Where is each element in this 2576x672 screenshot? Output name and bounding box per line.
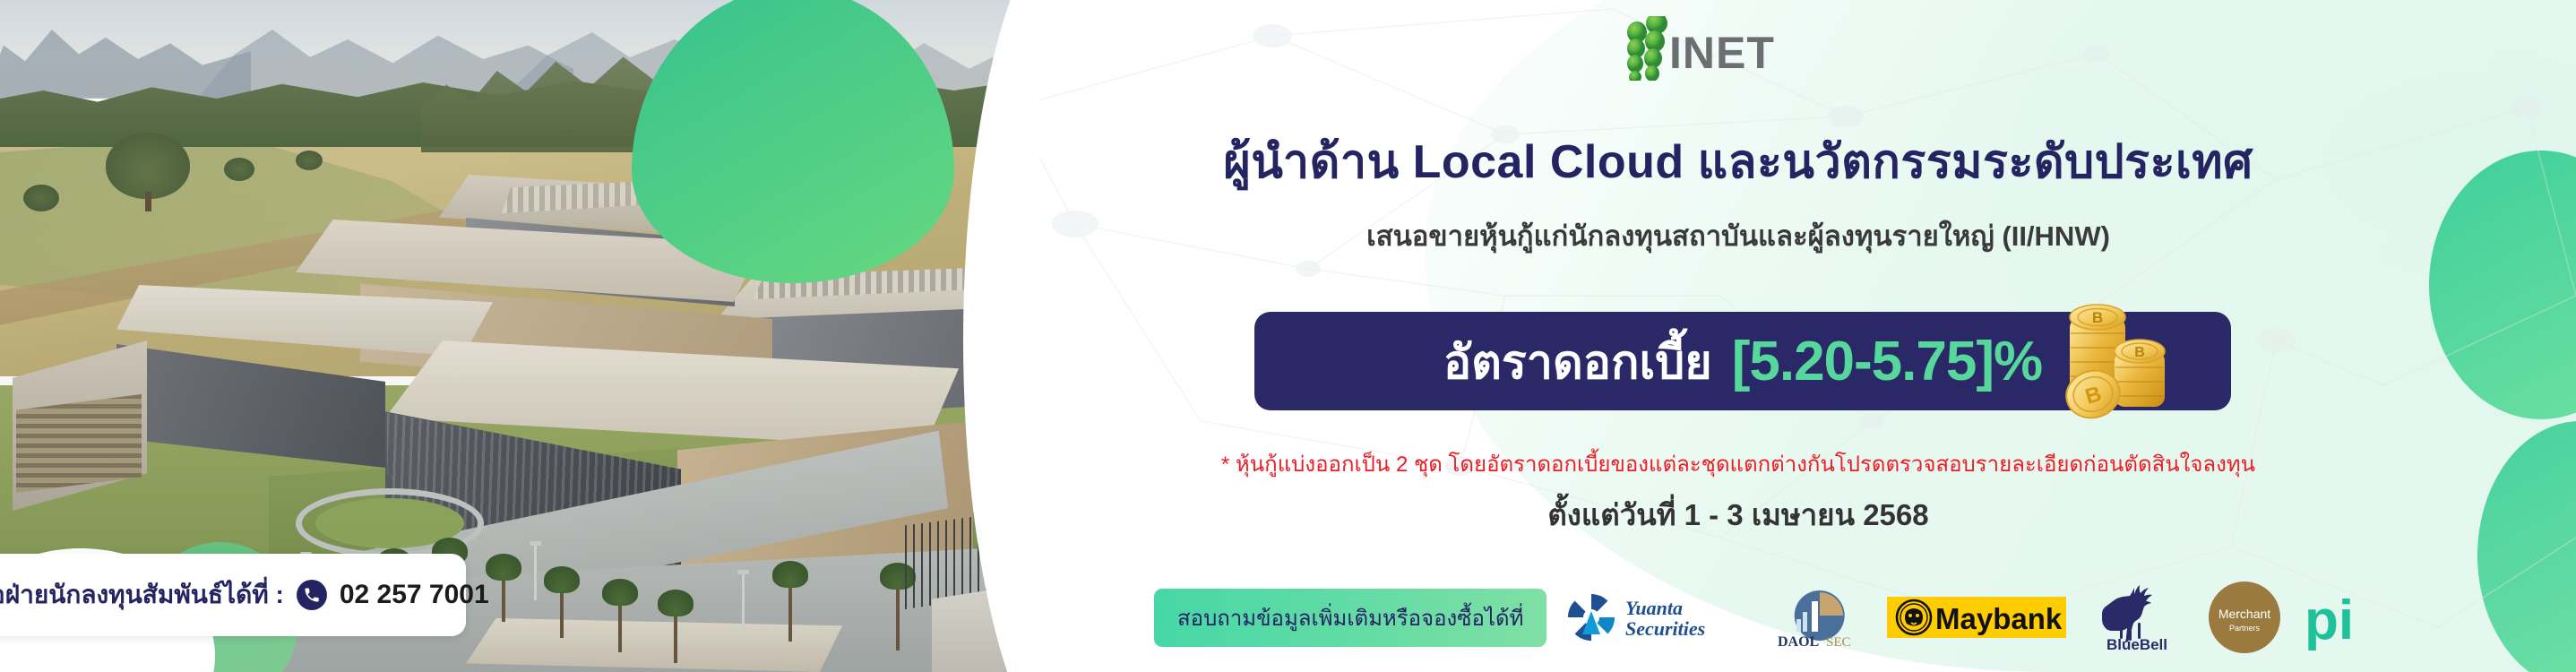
svg-text:B: B: [2134, 345, 2145, 360]
inet-logo-dots: [1627, 16, 1667, 81]
partner-logo-daol-sec[interactable]: DAOL SEC: [1770, 583, 1869, 651]
merchant-wordmark-line1: Merchant: [2218, 607, 2270, 621]
partner-logo-yuanta-securities[interactable]: Yuanta Securities: [1564, 590, 1753, 645]
yuanta-wordmark-line2: Securities: [1625, 617, 1705, 640]
interest-rate-value: [5.20-5.75]%: [1732, 330, 2042, 393]
page-subtitle: เสนอขายหุ้นกู้แก่นักลงทุนสถาบันและผู้ลงท…: [1039, 213, 2437, 258]
pi-wordmark: pi: [2305, 590, 2354, 651]
daol-wordmark: DAOL: [1778, 634, 1819, 650]
investor-relations-contact-box: ติดต่อฝ่ายนักลงทุนสัมพันธ์ได้ที่ : 02 25…: [0, 554, 466, 636]
daol-mark-icon: [1795, 590, 1845, 641]
page-title: ผู้นำด้าน Local Cloud และนวัตกรรมระดับปร…: [1039, 124, 2437, 198]
bluebell-wordmark: BlueBell: [2106, 636, 2167, 651]
contact-label: ติดต่อฝ่ายนักลงทุนสัมพันธ์ได้ที่ :: [0, 575, 284, 615]
inet-logo-wordmark: INET: [1669, 28, 1775, 78]
interest-rate-label: อัตราดอกเบี้ย: [1443, 324, 1712, 399]
inquiry-button[interactable]: สอบถามข้อมูลเพิ่มเติมหรือจองซื้อได้ที่: [1154, 589, 1546, 647]
green-teardrop-decoration: [632, 0, 954, 283]
yuanta-wordmark-line1: Yuanta: [1625, 597, 1683, 619]
content-panel: INET ผู้นำด้าน Local Cloud และนวัตกรรมระ…: [1039, 0, 2576, 672]
offering-date-range: ตั้งแต่วันที่ 1 - 3 เมษายน 2568: [1039, 491, 2437, 538]
phone-icon: [297, 580, 327, 610]
sec-wordmark: SEC: [1826, 635, 1851, 650]
inet-logo: INET: [1599, 16, 1796, 81]
merchant-wordmark-line2: Partners: [2229, 624, 2261, 633]
partner-logo-merchant-partners[interactable]: Merchant Partners: [2208, 581, 2281, 654]
cta-and-partners-row: สอบถามข้อมูลเพิ่มเติมหรือจองซื้อได้ที่ Y…: [1039, 581, 2563, 654]
partner-logo-bluebell[interactable]: BlueBell: [2084, 583, 2190, 651]
contact-phone-number[interactable]: 02 257 7001: [340, 580, 489, 610]
interest-rate-box: อัตราดอกเบี้ย [5.20-5.75]%: [1254, 312, 2231, 410]
svg-text:B: B: [2092, 309, 2103, 326]
maybank-wordmark: Maybank: [1935, 602, 2063, 635]
partner-logo-pi[interactable]: pi: [2299, 583, 2376, 651]
bluebell-deer-icon: [2102, 585, 2152, 642]
yuanta-star-icon: [1568, 594, 1615, 641]
inet-bond-offering-banner: INET ผู้นำด้าน Local Cloud และนวัตกรรมระ…: [0, 0, 2576, 672]
disclaimer-text: * หุ้นกู้แบ่งออกเป็น 2 ชุด โดยอัตราดอกเบ…: [1039, 446, 2437, 481]
partner-logo-maybank[interactable]: Maybank: [1887, 593, 2066, 642]
bitcoin-coins-icon: B B: [2046, 290, 2172, 425]
